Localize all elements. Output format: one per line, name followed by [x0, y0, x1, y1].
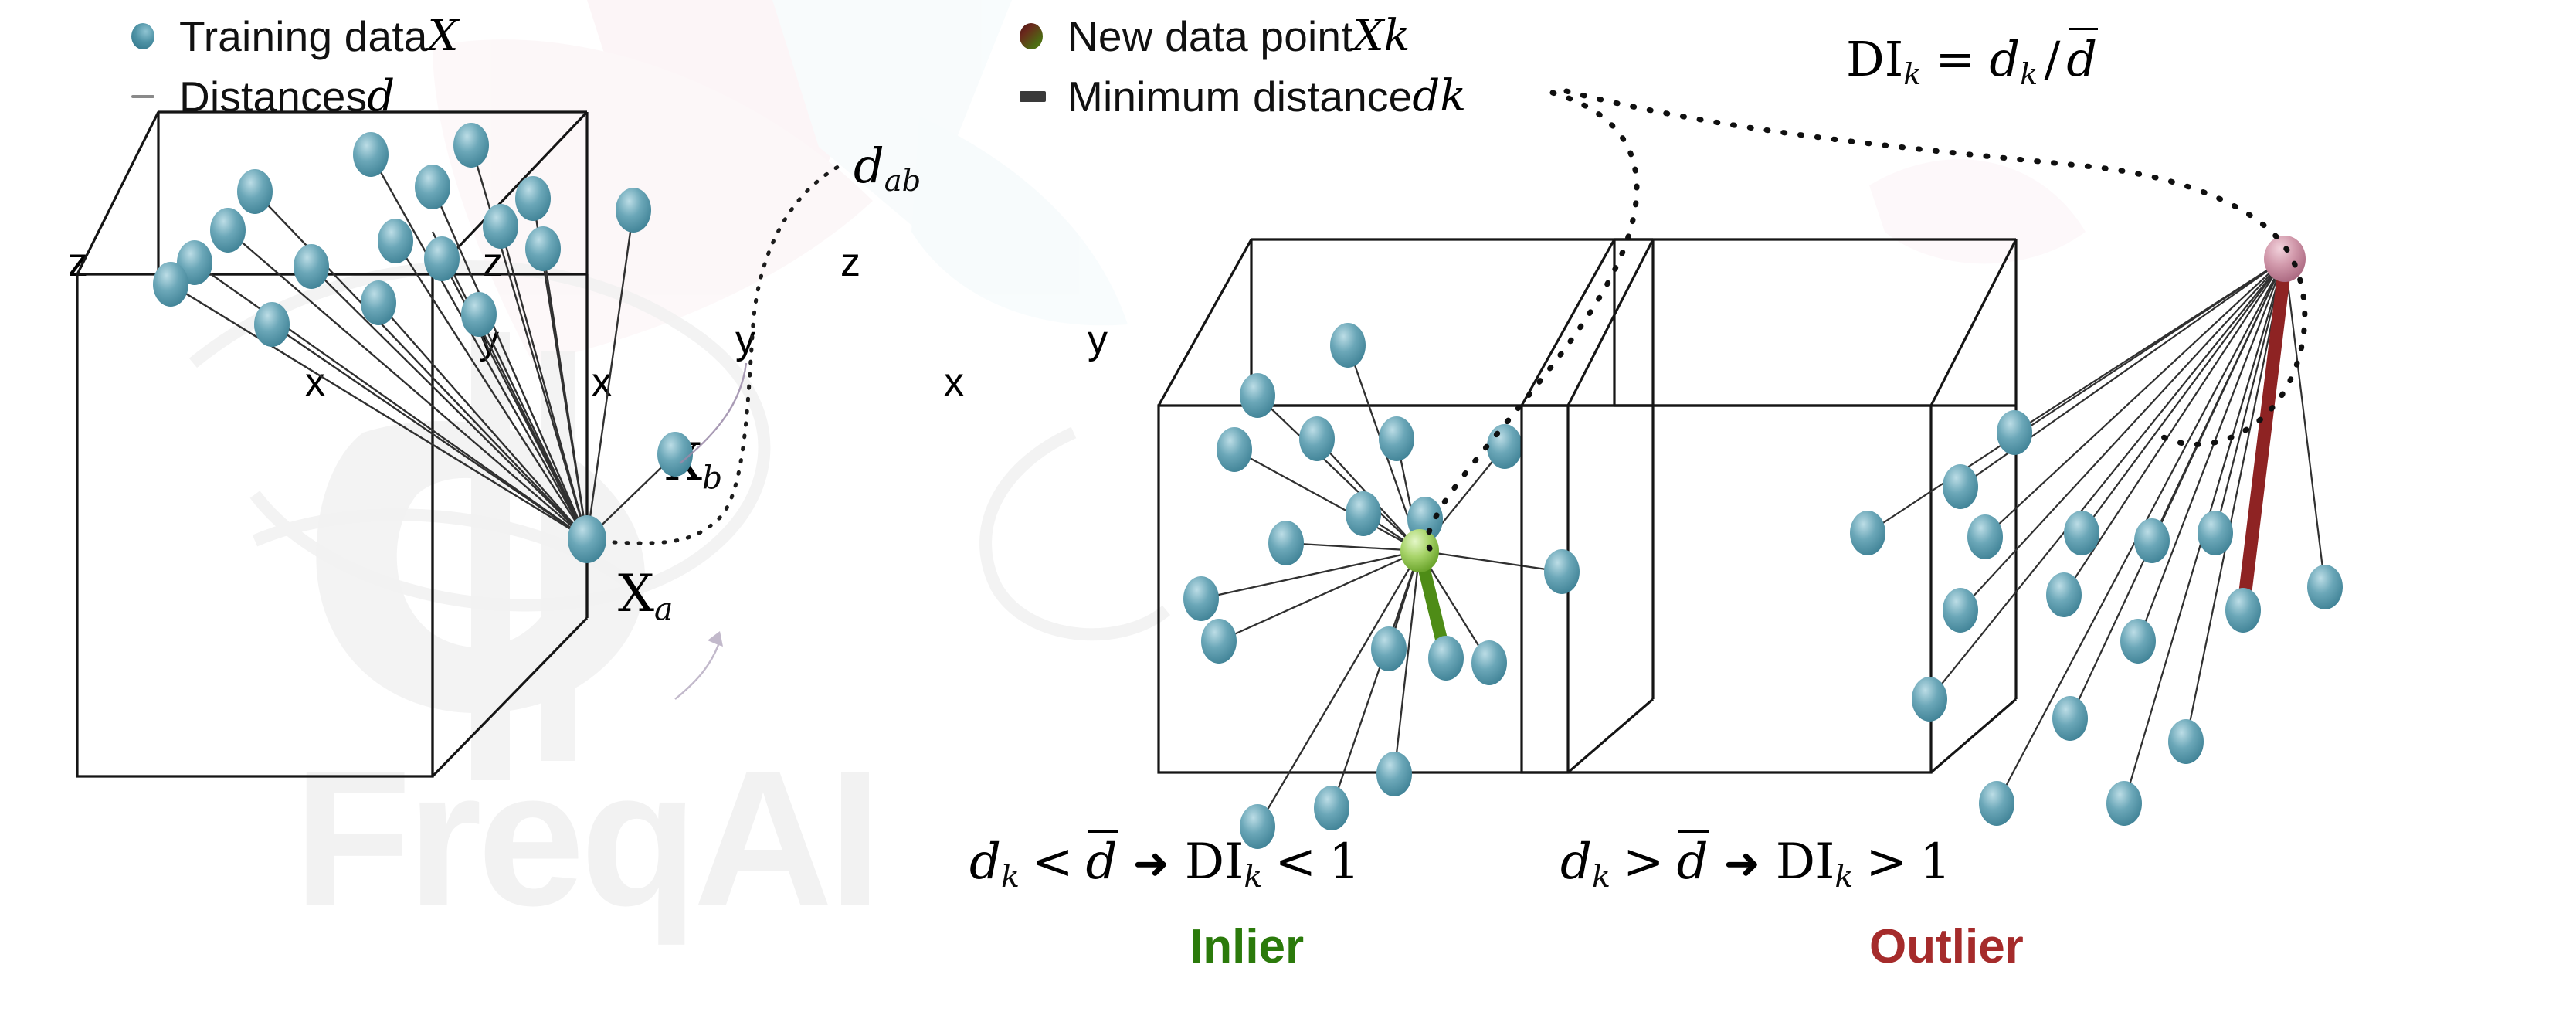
outlier-cube-contents	[1850, 236, 2343, 826]
decor-curve-panel1	[675, 645, 718, 699]
outlier-cube	[1522, 236, 2343, 826]
inlier-cube	[1159, 239, 1653, 849]
cube-wireframe-panel2	[1159, 239, 1653, 772]
training-points-panel2	[1183, 323, 1580, 849]
nearest-neighbour-point-outlier	[2225, 588, 2261, 633]
arrowhead-panel1	[708, 631, 723, 647]
training-data-cube	[77, 112, 843, 776]
training-points-panel1	[153, 123, 693, 563]
new-data-point-inlier	[1400, 529, 1439, 572]
training-points-panel3	[1850, 410, 2343, 826]
leader-line-minimum-distance-outlier	[1566, 91, 2305, 444]
new-data-point-outlier	[2264, 236, 2306, 282]
nearest-neighbour-point-inlier	[1428, 636, 1464, 681]
point-X-b	[657, 432, 693, 477]
diagram-svg	[0, 0, 2576, 1022]
minimum-distance-line-outlier	[2243, 267, 2285, 610]
leader-line-minimum-distance-inlier	[1427, 93, 1637, 550]
figure-canvas: FreqAI Training data X Distances d New d…	[0, 0, 2576, 1022]
point-X-a	[568, 515, 606, 563]
